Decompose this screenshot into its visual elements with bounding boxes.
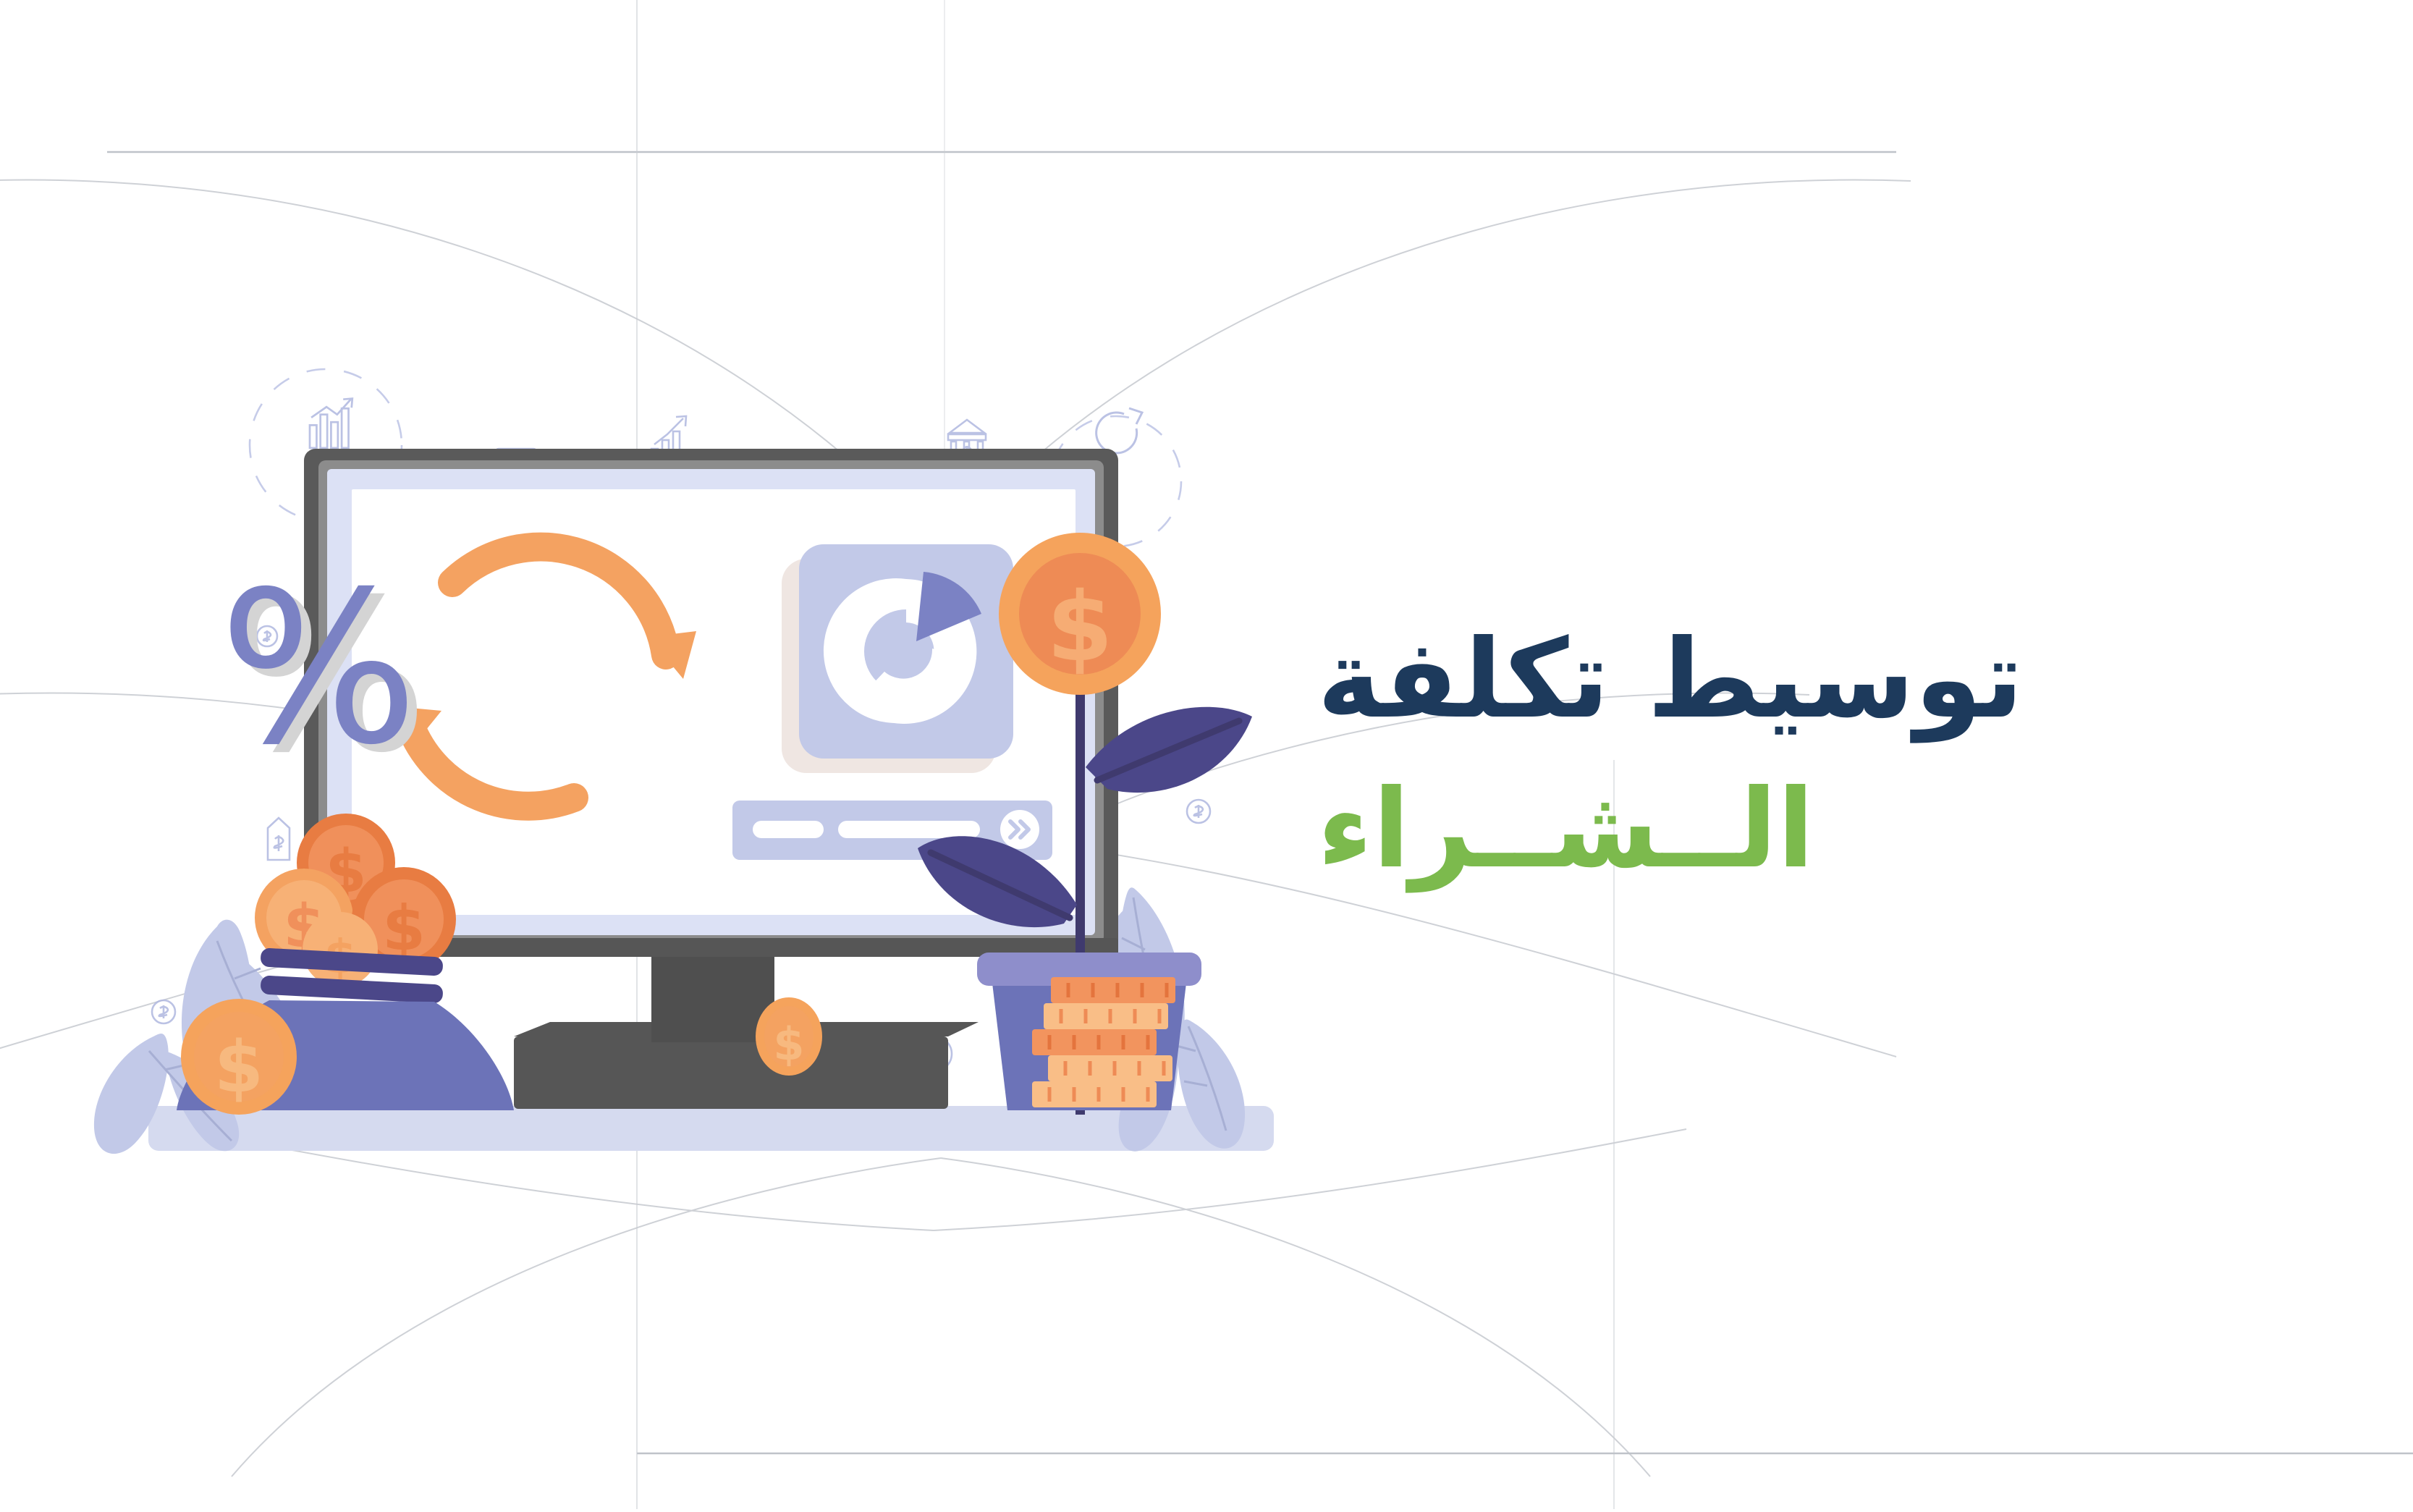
- coin-near-stand: $: [756, 997, 822, 1076]
- headline-line-2: الــشــراء: [1317, 755, 1909, 905]
- svg-text:$: $: [773, 1018, 804, 1070]
- input-field-short: [753, 821, 824, 838]
- dollar-cost-averaging-illustration: % %: [0, 0, 1317, 1509]
- svg-text:$: $: [382, 892, 426, 965]
- svg-text:$: $: [1047, 572, 1113, 683]
- input-field-long: [838, 821, 980, 838]
- percent-glyph: %: [219, 547, 418, 791]
- svg-text:$: $: [214, 1026, 263, 1109]
- monitor-base: [514, 1036, 948, 1109]
- slide-canvas: % %: [0, 0, 2413, 1509]
- headline-line-1: توسيط تكلفة: [1317, 605, 2118, 755]
- coin-bucket: [977, 953, 1201, 1110]
- coin-stack: [1032, 977, 1175, 1107]
- donut-chart-card: [782, 544, 1013, 773]
- headline-block: توسيط تكلفة الــشــراء: [1317, 0, 2413, 1509]
- coin-top-right: $: [999, 533, 1161, 695]
- ground-shelf: [148, 1106, 1274, 1151]
- bag-front-coin: $: [181, 999, 297, 1115]
